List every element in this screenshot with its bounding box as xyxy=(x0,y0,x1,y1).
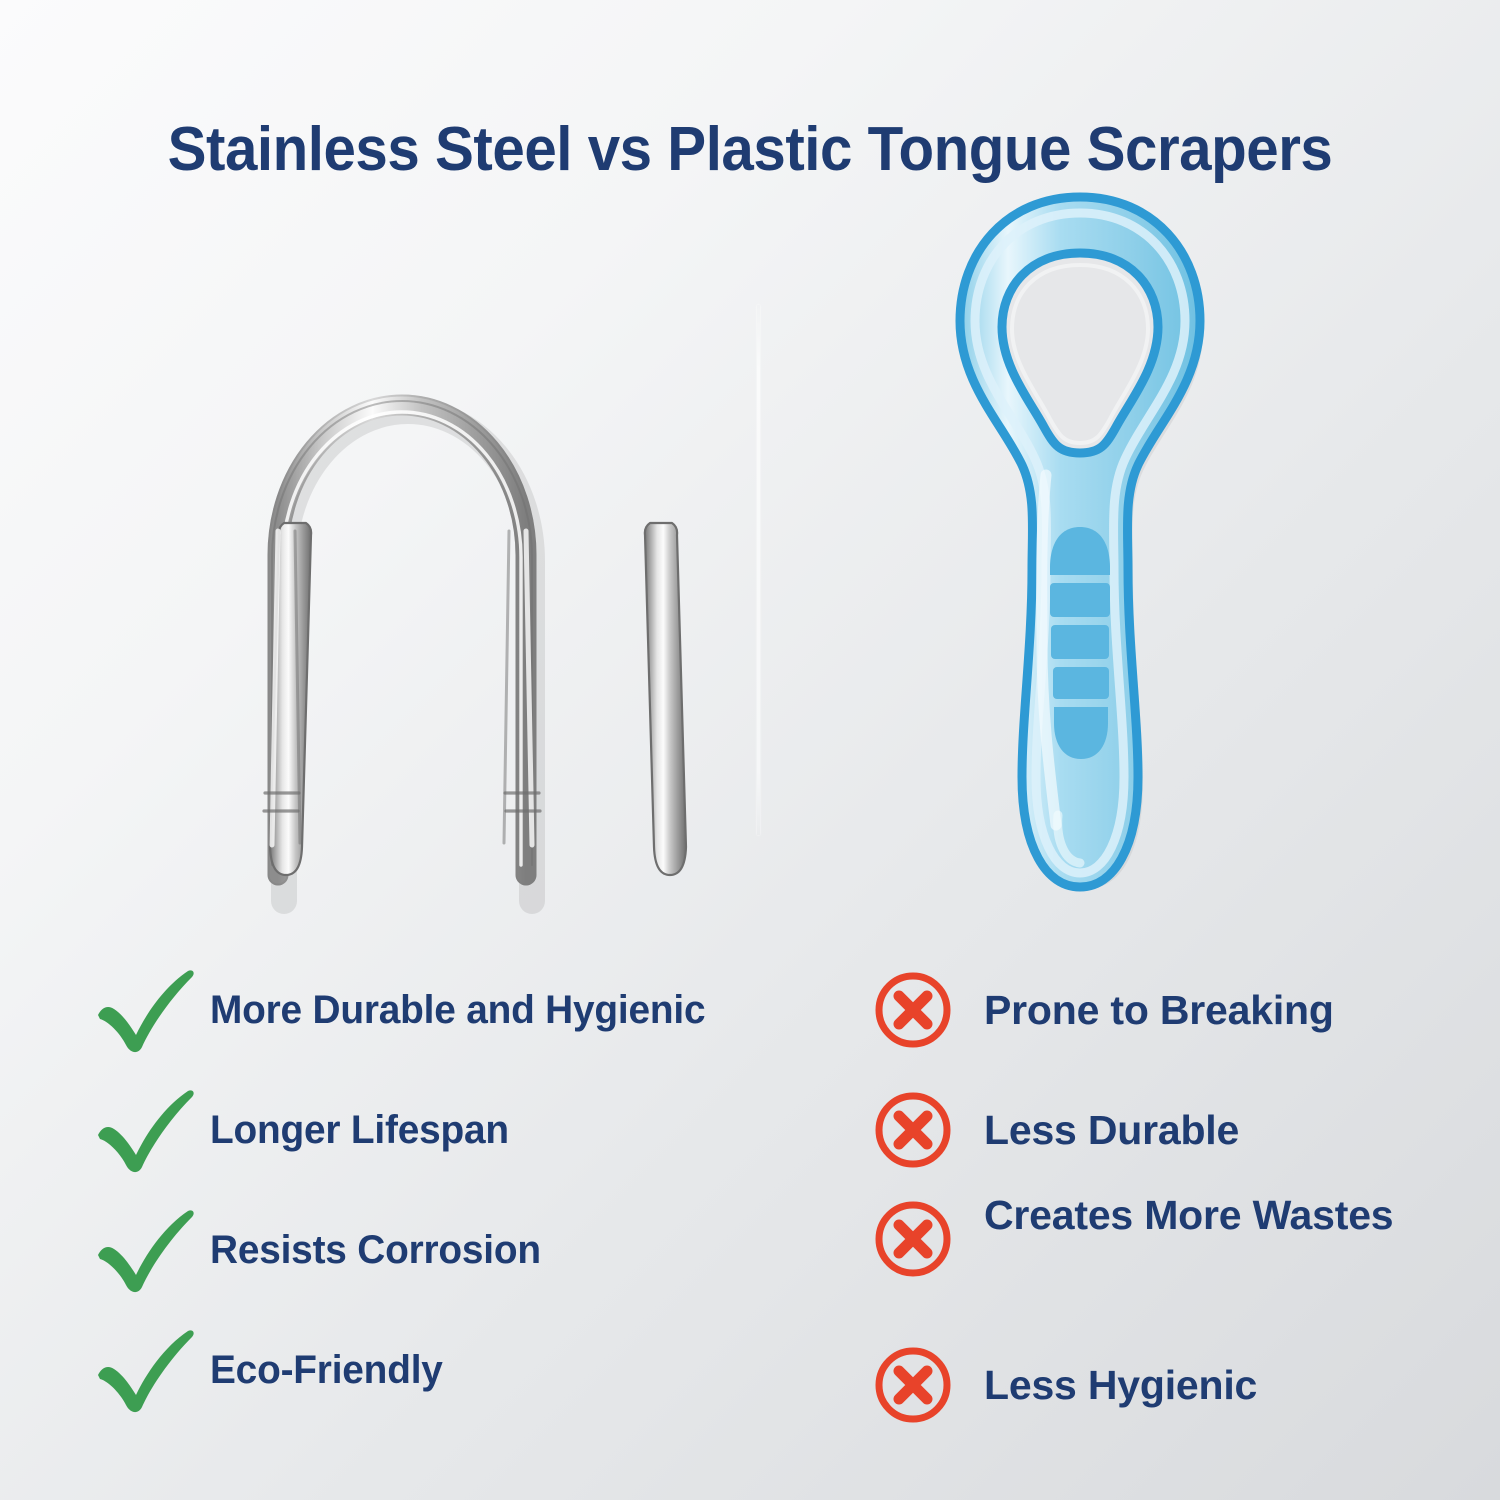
check-icon xyxy=(92,1327,210,1413)
circle-x-icon xyxy=(872,1089,984,1171)
page-title: Stainless Steel vs Plastic Tongue Scrape… xyxy=(45,114,1455,185)
list-item-label: Creates More Wastes xyxy=(984,1190,1393,1240)
check-icon xyxy=(92,1087,210,1173)
list-item: Creates More Wastes xyxy=(872,1190,1432,1325)
list-item-label: Prone to Breaking xyxy=(984,985,1334,1035)
list-item-label: Longer Lifespan xyxy=(210,1106,509,1155)
list-item: Resists Corrosion xyxy=(92,1190,812,1310)
list-item-label: Resists Corrosion xyxy=(210,1226,541,1275)
infographic-page: Stainless Steel vs Plastic Tongue Scrape… xyxy=(0,0,1500,1500)
list-item: Prone to Breaking xyxy=(872,950,1432,1070)
vertical-divider xyxy=(757,305,760,835)
comparison-lists: More Durable and Hygienic Longer Lifespa… xyxy=(0,950,1500,1490)
list-item-label: Less Durable xyxy=(984,1105,1239,1155)
list-item: Less Hygienic xyxy=(872,1325,1432,1445)
circle-x-icon xyxy=(872,969,984,1051)
list-item: More Durable and Hygienic xyxy=(92,950,812,1070)
steel-drop-shadow xyxy=(284,411,532,901)
list-item: Eco-Friendly xyxy=(92,1310,812,1430)
list-item-label: More Durable and Hygienic xyxy=(210,986,705,1035)
pros-column: More Durable and Hygienic Longer Lifespa… xyxy=(92,950,812,1430)
list-item-label: Eco-Friendly xyxy=(210,1346,443,1395)
list-item: Less Durable xyxy=(872,1070,1432,1190)
product-illustration-area xyxy=(0,175,1500,935)
check-icon xyxy=(92,1207,210,1293)
circle-x-icon xyxy=(872,1190,984,1280)
stainless-steel-scraper-illustration xyxy=(200,175,720,915)
plastic-scraper-illustration xyxy=(930,175,1230,915)
list-item: Longer Lifespan xyxy=(92,1070,812,1190)
cons-column: Prone to Breaking Less Durable xyxy=(872,950,1432,1445)
circle-x-icon xyxy=(872,1344,984,1426)
list-item-label: Less Hygienic xyxy=(984,1360,1257,1410)
check-icon xyxy=(92,967,210,1053)
plastic-grip-pad xyxy=(1050,527,1110,759)
